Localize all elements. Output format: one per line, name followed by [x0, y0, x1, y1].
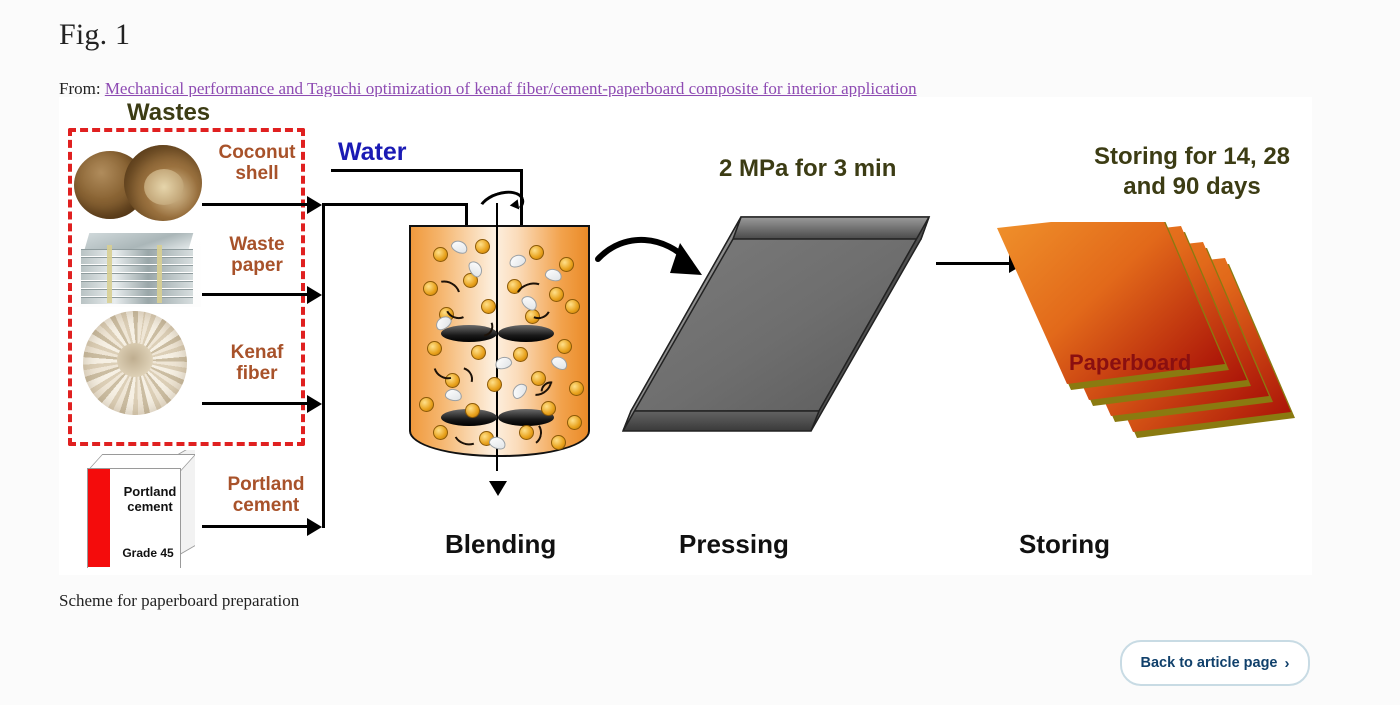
article-link[interactable]: Mechanical performance and Taguchi optim…: [105, 79, 917, 98]
paperboard-label: Paperboard: [1069, 350, 1191, 376]
from-label: From:: [59, 79, 101, 98]
coconut-shell-image: [72, 139, 202, 224]
feed-arrow-kenaf: [307, 395, 322, 413]
chevron-right-icon: ›: [1285, 656, 1290, 671]
tank-outlet-arrow: [489, 481, 507, 496]
storing-condition-label: Storing for 14, 28 and 90 days: [1067, 142, 1312, 202]
feed-arrow-cement: [307, 518, 322, 536]
feed-to-tank-line: [322, 203, 468, 206]
label-portland-cement: Portland cement: [207, 474, 325, 516]
source-line: From: Mechanical performance and Taguchi…: [59, 79, 917, 99]
figure-image: Wastes Coconut shell Waste paper Kenaf f…: [59, 97, 1312, 575]
feed-arrow-coconut: [307, 196, 322, 214]
pressing-slab: [619, 199, 939, 464]
feed-arrow-paper: [307, 286, 322, 304]
back-button-label: Back to article page: [1141, 655, 1278, 671]
label-coconut-shell: Coconut shell: [209, 142, 305, 184]
portland-cement-bag-image: Portland cement Grade 45: [77, 450, 195, 568]
impeller-blade-upper-right: [498, 325, 554, 342]
kenaf-fiber-image: [83, 311, 187, 415]
feed-line-coconut: [202, 203, 314, 206]
feed-line-cement: [202, 525, 314, 528]
stage-label-blending: Blending: [445, 529, 556, 560]
figure-page: Fig. 1 From: Mechanical performance and …: [0, 0, 1400, 705]
wastes-title: Wastes: [127, 99, 210, 127]
back-to-article-button[interactable]: Back to article page ›: [1120, 640, 1310, 686]
label-waste-paper: Waste paper: [209, 234, 305, 276]
tank-stirrer-shaft: [496, 203, 498, 471]
stage-label-storing: Storing: [1019, 529, 1110, 560]
figure-caption: Scheme for paperboard preparation: [59, 591, 299, 611]
label-kenaf-fiber: Kenaf fiber: [209, 342, 305, 384]
cement-bag-grade: Grade 45: [113, 546, 183, 560]
stage-label-pressing: Pressing: [679, 529, 789, 560]
waste-paper-image: [73, 229, 201, 307]
cement-bag-name: Portland cement: [115, 484, 185, 514]
feed-bus-line: [322, 203, 325, 528]
water-line-horizontal: [331, 169, 523, 172]
water-label: Water: [338, 138, 407, 167]
feed-line-kenaf: [202, 402, 314, 405]
blending-tank: [409, 225, 586, 468]
feed-line-paper: [202, 293, 314, 296]
press-condition-label: 2 MPa for 3 min: [719, 155, 896, 183]
page-title: Fig. 1: [59, 18, 130, 52]
